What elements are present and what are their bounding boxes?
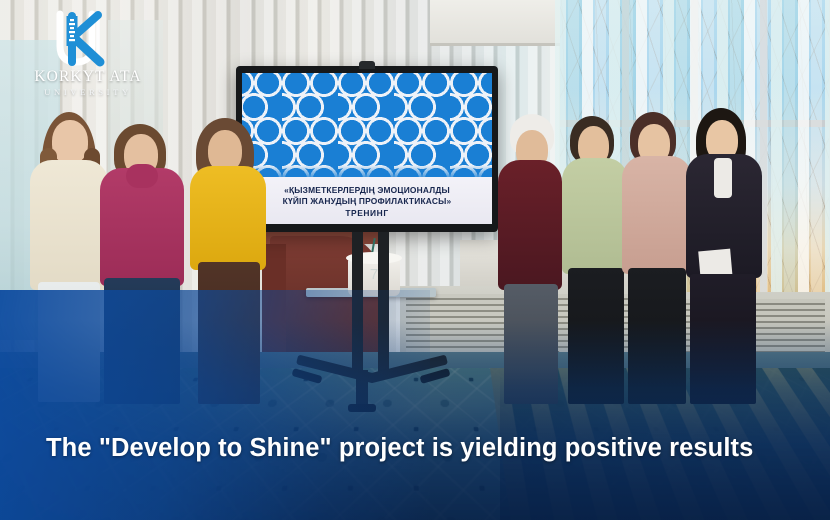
- display-camera-icon: [359, 61, 375, 69]
- logo-mark-icon: [28, 10, 148, 68]
- presentation-display: «ҚЫЗМЕТКЕРЛЕРДІҢ ЭМОЦИОНАЛДЫ КҮЙІП ЖАНУД…: [236, 66, 498, 232]
- caption-headline: The "Develop to Shine" project is yieldi…: [46, 433, 776, 464]
- korkyt-ku-monogram-icon: [28, 10, 148, 68]
- display-screen: «ҚЫЗМЕТКЕРЛЕРДІҢ ЭМОЦИОНАЛДЫ КҮЙІП ЖАНУД…: [242, 73, 492, 224]
- screen-title-line-2: КҮЙІП ЖАНУДЫҢ ПРОФИЛАКТИКАСЫ»: [283, 196, 452, 207]
- screen-circle-pattern: [242, 73, 492, 179]
- logo-name-line-1: KORKYT ATA: [28, 68, 148, 86]
- screen-title-banner: «ҚЫЗМЕТКЕРЛЕРДІҢ ЭМОЦИОНАЛДЫ КҮЙІП ЖАНУД…: [242, 177, 492, 224]
- screen-title-line-1: «ҚЫЗМЕТКЕРЛЕРДІҢ ЭМОЦИОНАЛДЫ: [284, 185, 450, 196]
- overlay-gradient-left: [0, 290, 430, 520]
- logo-name-line-2: UNIVERSITY: [28, 87, 148, 97]
- logo: KORKYT ATA UNIVERSITY: [28, 10, 148, 106]
- photo-banner: «ҚЫЗМЕТКЕРЛЕРДІҢ ЭМОЦИОНАЛДЫ КҮЙІП ЖАНУД…: [0, 0, 830, 520]
- screen-title-line-3: ТРЕНИНГ: [345, 208, 388, 219]
